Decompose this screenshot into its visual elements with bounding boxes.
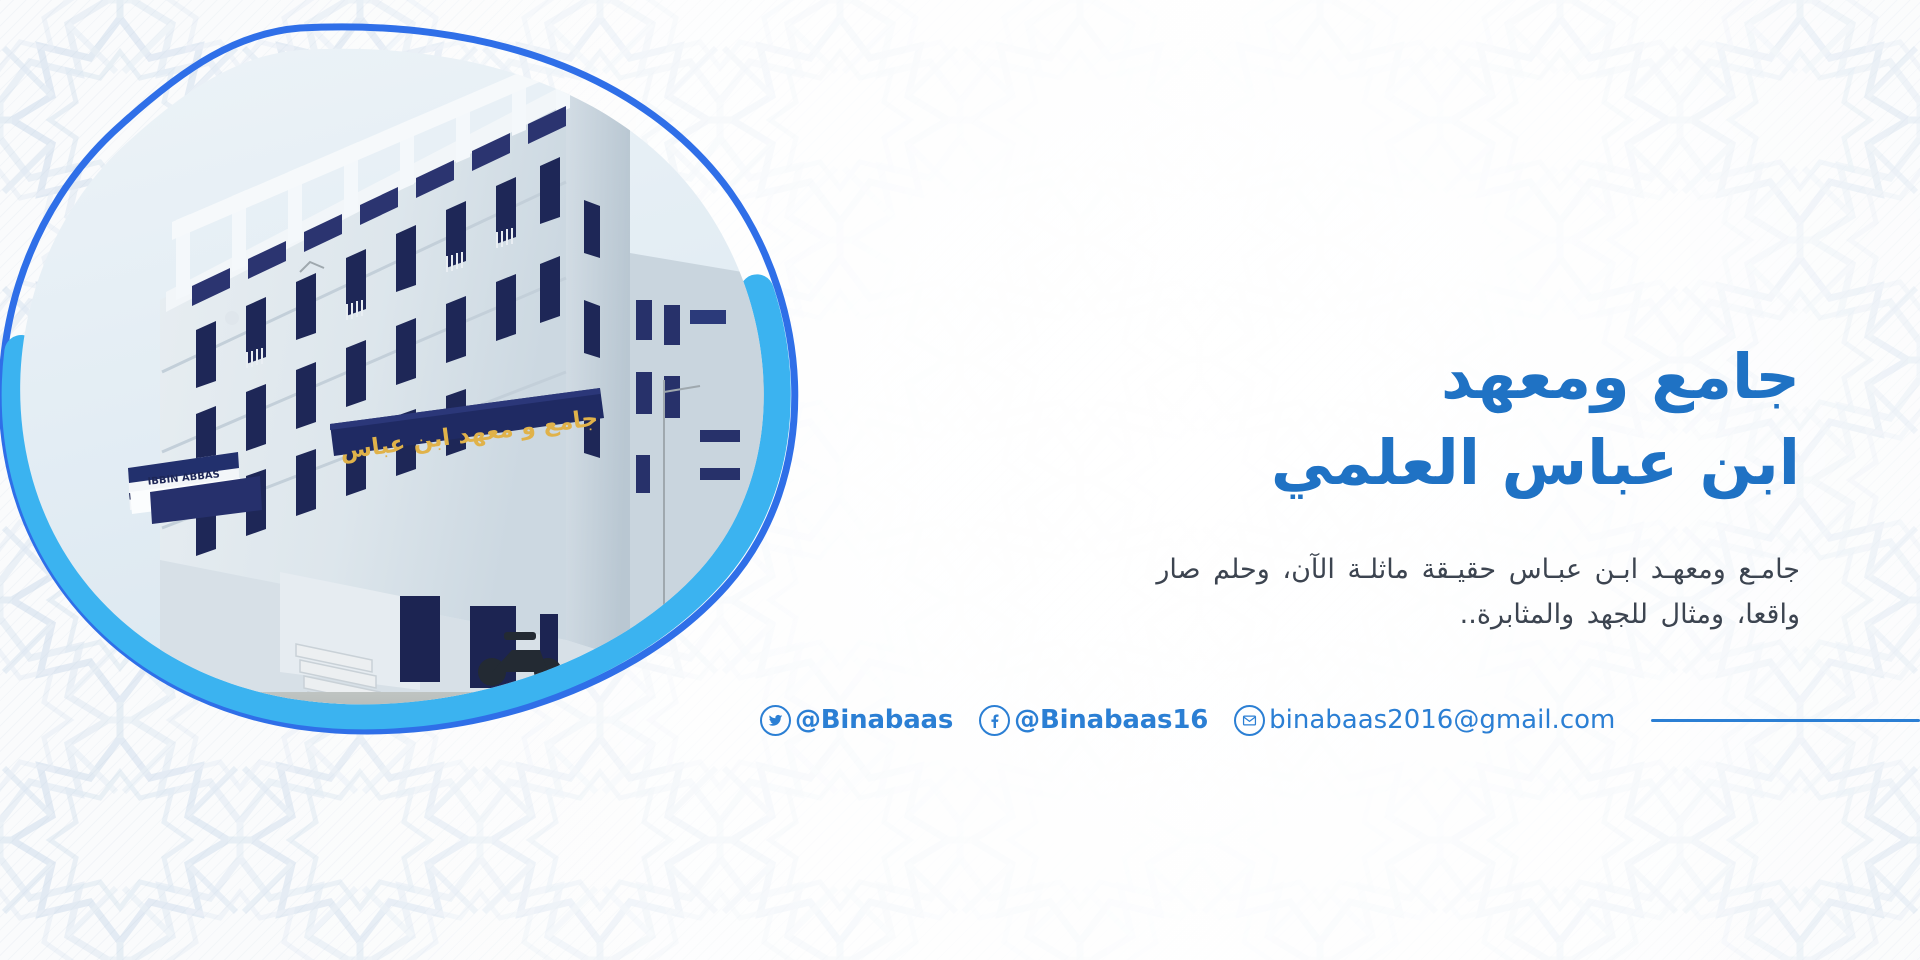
social-item-twitter[interactable]: @Binabaas bbox=[760, 705, 953, 736]
page-title: جامع ومعهد ابن عباس العلمي bbox=[1200, 334, 1800, 506]
poster-canvas: جامع و معهد ابن عباس IBBIN ABBAS MOSQUE … bbox=[0, 0, 1920, 960]
social-item-email[interactable]: binabaas2016@gmail.com bbox=[1234, 705, 1615, 736]
facebook-handle[interactable]: @Binabaas16 bbox=[1014, 705, 1208, 735]
footer-divider-rule bbox=[1651, 719, 1920, 722]
social-item-facebook[interactable]: @Binabaas16 bbox=[979, 705, 1208, 736]
title-line-2: ابن عباس العلمي bbox=[1200, 420, 1800, 506]
social-footer: @Binabaas @Binabaas16 binabaas2016@gmail… bbox=[760, 690, 1920, 750]
title-line-1: جامع ومعهد bbox=[1441, 340, 1800, 413]
twitter-handle[interactable]: @Binabaas bbox=[795, 705, 953, 735]
facebook-icon[interactable] bbox=[979, 705, 1010, 736]
text-column: جامع ومعهد ابن عباس العلمي جامـع ومعهـد … bbox=[960, 0, 1840, 960]
hero-photo-artwork: جامع و معهد ابن عباس IBBIN ABBAS MOSQUE … bbox=[0, 0, 850, 760]
email-address[interactable]: binabaas2016@gmail.com bbox=[1269, 705, 1615, 735]
body-paragraph: جامـع ومعهـد ابـن عبـاس حقيـقة ماثلـة ال… bbox=[1140, 547, 1800, 637]
email-icon[interactable] bbox=[1234, 705, 1265, 736]
body-line-1: جامـع ومعهـد ابـن عبـاس حقيـقة ماثلـة ال… bbox=[1282, 554, 1800, 585]
twitter-icon[interactable] bbox=[760, 705, 791, 736]
